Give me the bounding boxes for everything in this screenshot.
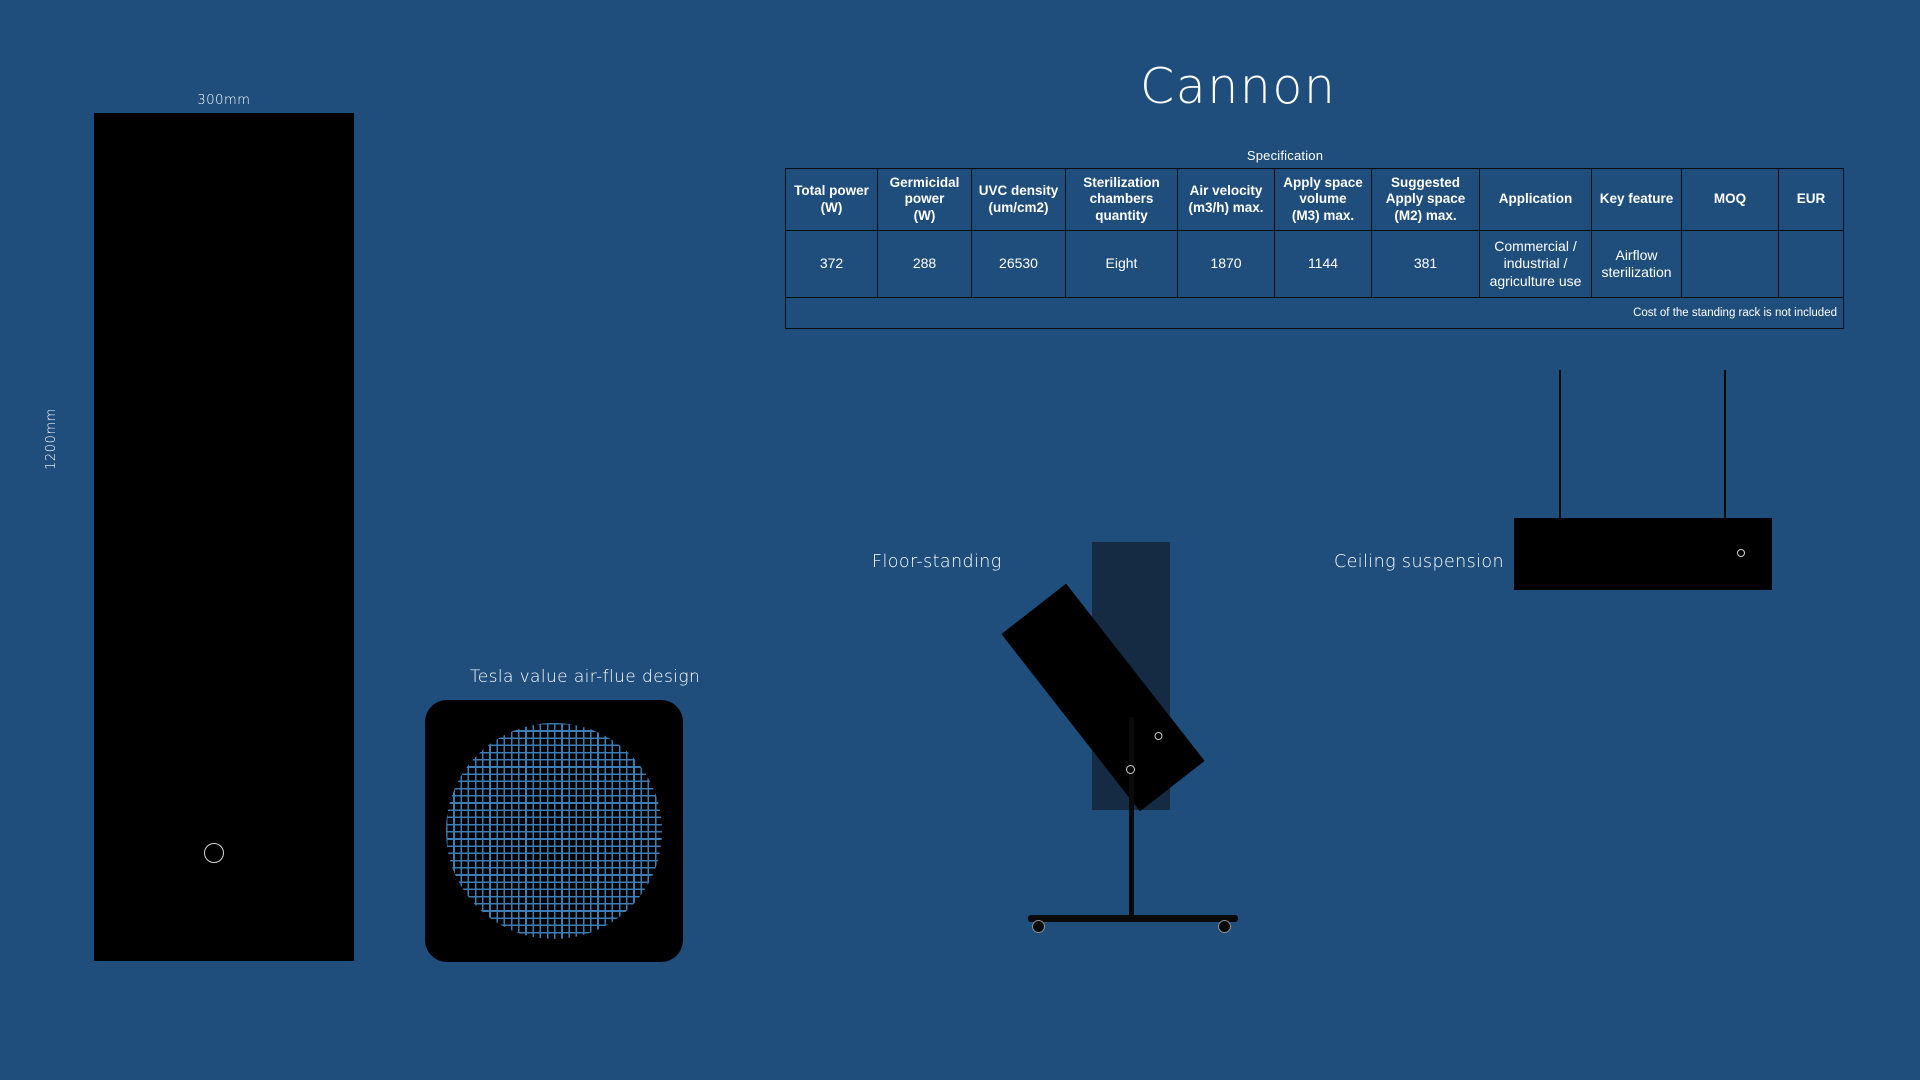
col-suggested-apply-space: Suggested Apply space (M2) max. [1372,169,1480,231]
col-air-velocity: Air velocity (m3/h) max. [1178,169,1275,231]
suspension-cable [1724,370,1726,518]
col-line: Sterilization [1083,175,1160,190]
col-line: Apply space [1386,191,1466,206]
col-eur: EUR [1779,169,1844,231]
cell-line: agriculture use [1490,273,1582,289]
col-line: (m3/h) max. [1188,200,1263,215]
spec-table-wrapper: Total power (W) Germicidal power (W) UVC… [785,168,1766,329]
grille-module [425,700,683,962]
cell-application: Commercial / industrial / agriculture us… [1480,231,1592,298]
col-line: Apply space [1283,175,1363,190]
col-line: Total power [794,183,869,198]
spec-table-caption: Specification [785,148,1785,163]
col-moq: MOQ [1682,169,1779,231]
col-line: Suggested [1391,175,1460,190]
cell-air-velocity: 1870 [1178,231,1275,298]
col-line: Germicidal [890,175,960,190]
col-line: Air velocity [1190,183,1263,198]
cell-eur [1779,231,1844,298]
col-key-feature: Key feature [1592,169,1682,231]
cell-line: industrial / [1504,255,1568,271]
power-indicator-icon [204,843,224,863]
caster-wheel-icon [1218,920,1231,933]
mesh-grid-icon [446,723,662,939]
col-line: (W) [914,208,936,223]
cell-apply-space-volume: 1144 [1275,231,1372,298]
power-indicator-icon [1737,549,1745,557]
cell-total-power: 372 [786,231,878,298]
specification-table: Total power (W) Germicidal power (W) UVC… [785,168,1844,329]
col-line: UVC density [979,183,1059,198]
page-title: Cannon [1140,62,1320,111]
col-uvc-density: UVC density (um/cm2) [972,169,1066,231]
col-line: (M3) max. [1292,208,1354,223]
floor-standing-caption: Floor-standing [872,552,1002,572]
col-line: (um/cm2) [988,200,1048,215]
col-application: Application [1480,169,1592,231]
cell-uvc-density: 26530 [972,231,1066,298]
col-apply-space-volume: Apply space volume (M3) max. [1275,169,1372,231]
product-spec-sheet: Cannon Specification Total power (W) Ger… [0,0,1920,1080]
col-line: quantity [1095,208,1148,223]
power-indicator-icon [1153,730,1164,741]
floor-standing-assembly [1010,525,1270,955]
cell-germicidal-power: 288 [878,231,972,298]
col-line: volume [1299,191,1346,206]
stand-pole [1129,717,1134,920]
cell-line: sterilization [1601,264,1671,280]
table-header-row: Total power (W) Germicidal power (W) UVC… [786,169,1844,231]
col-line: chambers [1090,191,1154,206]
dimension-width-label: 300mm [144,93,304,108]
product-front-view [94,113,354,961]
cell-line: Airflow [1615,247,1657,263]
cell-moq [1682,231,1779,298]
ceiling-suspension-assembly [1514,370,1784,600]
suspension-cable [1559,370,1561,518]
cell-suggested-apply-space: 381 [1372,231,1480,298]
spec-note: Cost of the standing rack is not include… [786,298,1844,329]
col-line: (M2) max. [1394,208,1456,223]
caster-wheel-icon [1032,920,1045,933]
table-row: 372 288 26530 Eight 1870 1144 381 Commer… [786,231,1844,298]
grille-caption: Tesla value air-flue design [425,667,745,687]
ceiling-unit-body [1514,518,1772,590]
cell-sterilization-chambers: Eight [1066,231,1178,298]
stand-base-bar [1028,915,1238,922]
col-total-power: Total power (W) [786,169,878,231]
col-line: power [905,191,945,206]
cell-key-feature: Airflow sterilization [1592,231,1682,298]
col-germicidal-power: Germicidal power (W) [878,169,972,231]
col-line: (W) [821,200,843,215]
cell-line: Commercial / [1494,238,1576,254]
tilt-pivot-icon [1126,765,1135,774]
ceiling-suspension-caption: Ceiling suspension [1334,552,1504,572]
dimension-height-label: 1200mm [44,408,59,470]
col-sterilization-chambers: Sterilization chambers quantity [1066,169,1178,231]
table-note-row: Cost of the standing rack is not include… [786,298,1844,329]
